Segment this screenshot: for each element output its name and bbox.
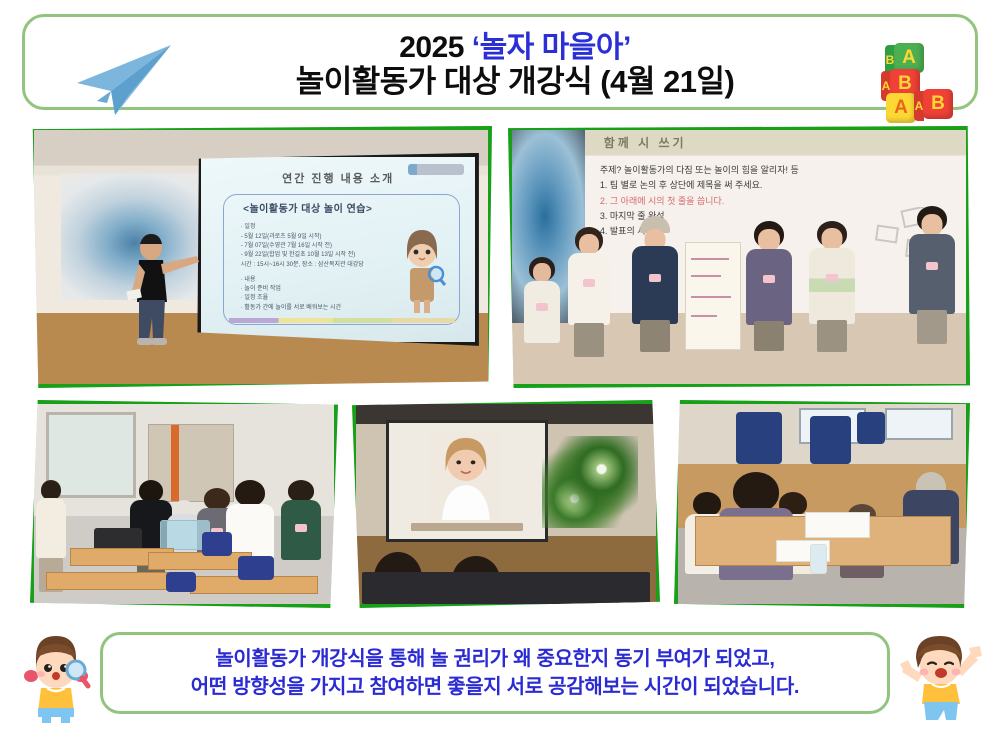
participant-3 — [626, 216, 685, 384]
caption-line-1: 놀이활동가 개강식을 통해 놀 권리가 왜 중요한지 동기 부여가 되었고, — [215, 645, 774, 673]
slide-page: 2025 ‘놀자 마을아’ 놀이활동가 대상 개강식 (4월 21일) B A … — [0, 0, 1000, 736]
paper-plane-icon — [67, 39, 179, 119]
projection-screen — [386, 420, 548, 542]
desk-3 — [46, 572, 168, 590]
slide-bullets: · 일정 - 5월 12일(과로츠 5월 9일 시작) - 7월 07일(수영관… — [241, 223, 415, 313]
participant-5 — [803, 221, 862, 384]
slide-bullet-b3: · 활동가 간에 놀이를 서로 배워보는 시간 — [241, 304, 415, 313]
slide-color-bar — [229, 318, 455, 323]
chair-1 — [202, 532, 232, 556]
participant-1 — [517, 257, 567, 384]
stacked-chairs-1 — [736, 412, 782, 464]
participant-2 — [562, 227, 616, 384]
photo-workshop-table — [30, 400, 338, 608]
slide-bullet-a0: · 일정 — [241, 223, 415, 232]
block-3: A — [886, 93, 916, 123]
slide-heading: 연간 진행 내용 소개 — [234, 170, 442, 186]
photo-group-poem: 함께 시 쓰기 주제? 놀이활동가의 다짐 또는 놀이의 힘을 알리자! 등 1… — [508, 126, 970, 388]
participant-6 — [902, 206, 961, 384]
stacked-chairs-2 — [810, 416, 850, 464]
video-speaker — [430, 432, 502, 520]
block-4: B — [923, 89, 953, 119]
slide-heading: 함께 시 쓰기 — [604, 134, 687, 151]
slide-character-illustration — [396, 222, 448, 317]
title-line-1: 2025 ‘놀자 마을아’ — [185, 31, 845, 65]
photo-presenter-slide: 연간 진행 내용 소개 <놀이활동가 대상 놀이 연습> · 일정 - 5월 1… — [30, 126, 492, 388]
slide-content-box: <놀이활동가 대상 놀이 연습> · 일정 - 5월 12일(과로츠 5월 9일… — [223, 194, 460, 326]
title-frame: 2025 ‘놀자 마을아’ 놀이활동가 대상 개강식 (4월 21일) B A … — [22, 14, 978, 110]
chair-3 — [166, 572, 196, 592]
dandelion-wall-art — [542, 436, 638, 528]
chair-2 — [238, 556, 274, 580]
team-poster — [685, 242, 741, 351]
slide-bullet-a1: - 5월 12일(과로츠 5월 9일 시작) — [241, 233, 415, 242]
title-line-2: 놀이활동가 대상 개강식 (4월 21일) — [185, 65, 845, 100]
slide-subheading: <놀이활동가 대상 놀이 연습> — [243, 200, 372, 215]
water-bottle — [810, 544, 826, 574]
caption-line-2: 어떤 방향성을 가지고 참여하면 좋을지 서로 공감해보는 시간이 되었습니다. — [191, 673, 799, 701]
title-program-name: ‘놀자 마을아’ — [472, 31, 631, 64]
photo-video-audience — [352, 400, 660, 608]
page-title: 2025 ‘놀자 마을아’ 놀이활동가 대상 개강식 (4월 21일) — [185, 31, 845, 99]
slide-bullet-b1: · 놀이 준비 작업 — [241, 285, 415, 294]
alphabet-blocks-icon: B A A B A A B — [873, 41, 969, 121]
slide-bullet-a3: - 9월 22일(합업 및 한길초 10월 13일 시작 전) — [241, 251, 415, 260]
projection-screen: 연간 진행 내용 소개 <놀이활동가 대상 놀이 연습> · 일정 - 5월 1… — [197, 153, 478, 346]
slide-bullet-a4: 시간 : 15시~16시 30분, 장소 : 삼산복지관 대강당 — [241, 261, 415, 270]
window-2 — [885, 408, 952, 440]
girl-with-magnifier-mascot — [14, 628, 98, 724]
desk-2 — [148, 552, 252, 570]
worksheet-1 — [805, 512, 870, 538]
presenter-figure — [125, 232, 199, 352]
photo-group-discussion — [674, 400, 970, 608]
slide-bullet-a2: - 7월 07일(수영관 7월 16일 시작 전) — [241, 242, 415, 251]
stacked-chairs-3 — [857, 412, 886, 444]
slide-line-1: 1. 팀 별로 논의 후 상단에 제목을 써 주세요. — [600, 178, 951, 193]
slide-bullet-b0: · 내용 — [241, 276, 415, 285]
participant-4 — [739, 221, 798, 384]
summary-caption: 놀이활동가 개강식을 통해 놀 권리가 왜 중요한지 동기 부여가 되었고, 어… — [100, 632, 890, 714]
video-subtitle-bar — [411, 523, 523, 531]
chair-row — [362, 572, 650, 604]
slide-bullet-b2: · 일정 조율 — [241, 294, 415, 303]
slide-line-0: 주제? 놀이활동가의 다짐 또는 놀이의 힘을 알리자! 등 — [600, 163, 951, 178]
boy-jumping-mascot — [898, 630, 984, 724]
title-year: 2025 — [399, 31, 472, 64]
